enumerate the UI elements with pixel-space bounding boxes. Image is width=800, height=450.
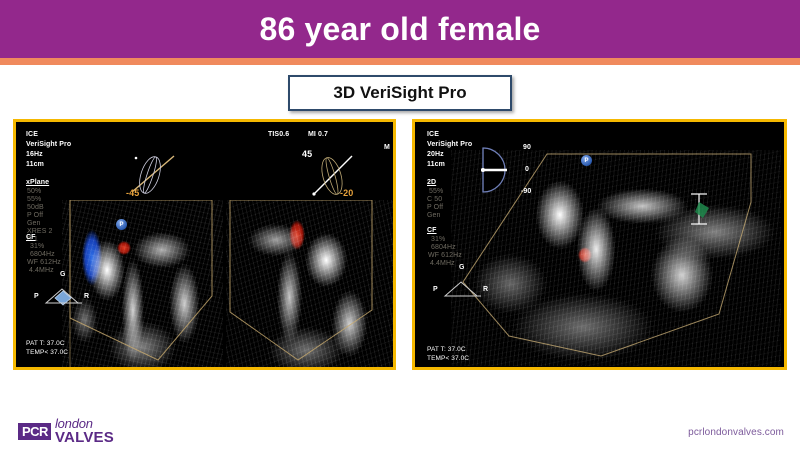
logo-wordmark: london VALVES <box>55 417 114 446</box>
color-flow-setting: 4.4MHz <box>29 267 54 276</box>
depth-label: 11cm <box>26 161 44 170</box>
gain-marker-right: R <box>483 286 488 295</box>
page-title: 86 year old female <box>259 13 540 45</box>
gain-indicator-right: G P R <box>433 272 493 304</box>
sector-outline <box>226 200 393 367</box>
gain-marker-top: G <box>60 271 66 280</box>
doppler-red-jet <box>116 240 132 256</box>
probe-label: VeriSight Pro <box>427 141 472 150</box>
header-accent-rule <box>0 58 800 65</box>
twod-mode-title: 2D <box>427 179 436 188</box>
plane-angle-left: -45 <box>126 189 139 198</box>
mi-index-label: MI 0.7 <box>308 131 328 140</box>
slide-root: 86 year old female 3D VeriSight Pro <box>0 0 800 450</box>
tis-index-label: TIS0.6 <box>268 131 289 140</box>
gain-marker-left: P <box>34 293 39 302</box>
depth-label: 11cm <box>427 161 445 170</box>
patient-temperature: PAT T: 37.0C <box>26 340 65 348</box>
logo-line-valves: VALVES <box>55 430 114 446</box>
color-flow-title: CF <box>427 227 437 236</box>
modality-label: ICE <box>427 131 439 140</box>
footer-website-url[interactable]: pcrlondonvalves.com <box>688 427 784 438</box>
gain-marker-top: G <box>459 264 465 273</box>
ultrasound-stage-left: ICE VeriSight Pro 16Hz 11cm TIS0.6 MI 0.… <box>16 122 393 367</box>
header-band: 86 year old female <box>0 0 800 58</box>
probe-label: VeriSight Pro <box>26 141 71 150</box>
probe-temperature: TEMP< 37.0C <box>427 355 469 363</box>
subtitle-label: 3D VeriSight Pro <box>333 83 466 103</box>
caliper-measurement-icon <box>687 190 721 230</box>
patient-temperature: PAT T: 37.0C <box>427 346 466 354</box>
subtitle-box: 3D VeriSight Pro <box>288 75 512 111</box>
plane-angle-right-secondary: -20 <box>340 189 353 198</box>
protractor-label-top: 90 <box>523 144 531 153</box>
ultrasound-stage-right: ICE VeriSight Pro 20Hz 11cm 2D 55% C 50 … <box>415 122 784 367</box>
gain-marker-left: P <box>433 286 438 295</box>
xplane-mode-title: xPlane <box>26 179 49 188</box>
protractor-label-middle: 0 <box>525 166 529 175</box>
mode-letter-label: M <box>384 144 390 153</box>
brand-logo: PCR london VALVES <box>18 417 114 446</box>
probe-temperature: TEMP< 37.0C <box>26 349 68 357</box>
protractor-label-bottom: -90 <box>521 188 531 197</box>
rotation-protractor-icon <box>473 144 521 196</box>
gain-marker-right: R <box>84 293 89 302</box>
doppler-red-jet <box>288 218 306 252</box>
modality-label: ICE <box>26 131 38 140</box>
color-flow-title: CF <box>26 234 36 243</box>
logo-badge: PCR <box>18 423 51 441</box>
doppler-red-jet <box>577 246 593 264</box>
gain-indicator-left: G P R <box>34 279 94 311</box>
probe-marker-bubble: P <box>116 219 127 230</box>
ultrasound-panel-right[interactable]: ICE VeriSight Pro 20Hz 11cm 2D 55% C 50 … <box>412 119 787 370</box>
frame-rate-label: 16Hz <box>26 151 43 160</box>
color-flow-setting: 4.4MHz <box>430 260 455 269</box>
ultrasound-panel-left[interactable]: ICE VeriSight Pro 16Hz 11cm TIS0.6 MI 0.… <box>13 119 396 370</box>
twod-setting: Gen <box>427 212 441 221</box>
plane-angle-right-primary: 45 <box>302 150 312 159</box>
echo-sector-left-b <box>226 200 393 367</box>
frame-rate-label: 20Hz <box>427 151 444 160</box>
probe-marker-bubble: P <box>581 155 592 166</box>
